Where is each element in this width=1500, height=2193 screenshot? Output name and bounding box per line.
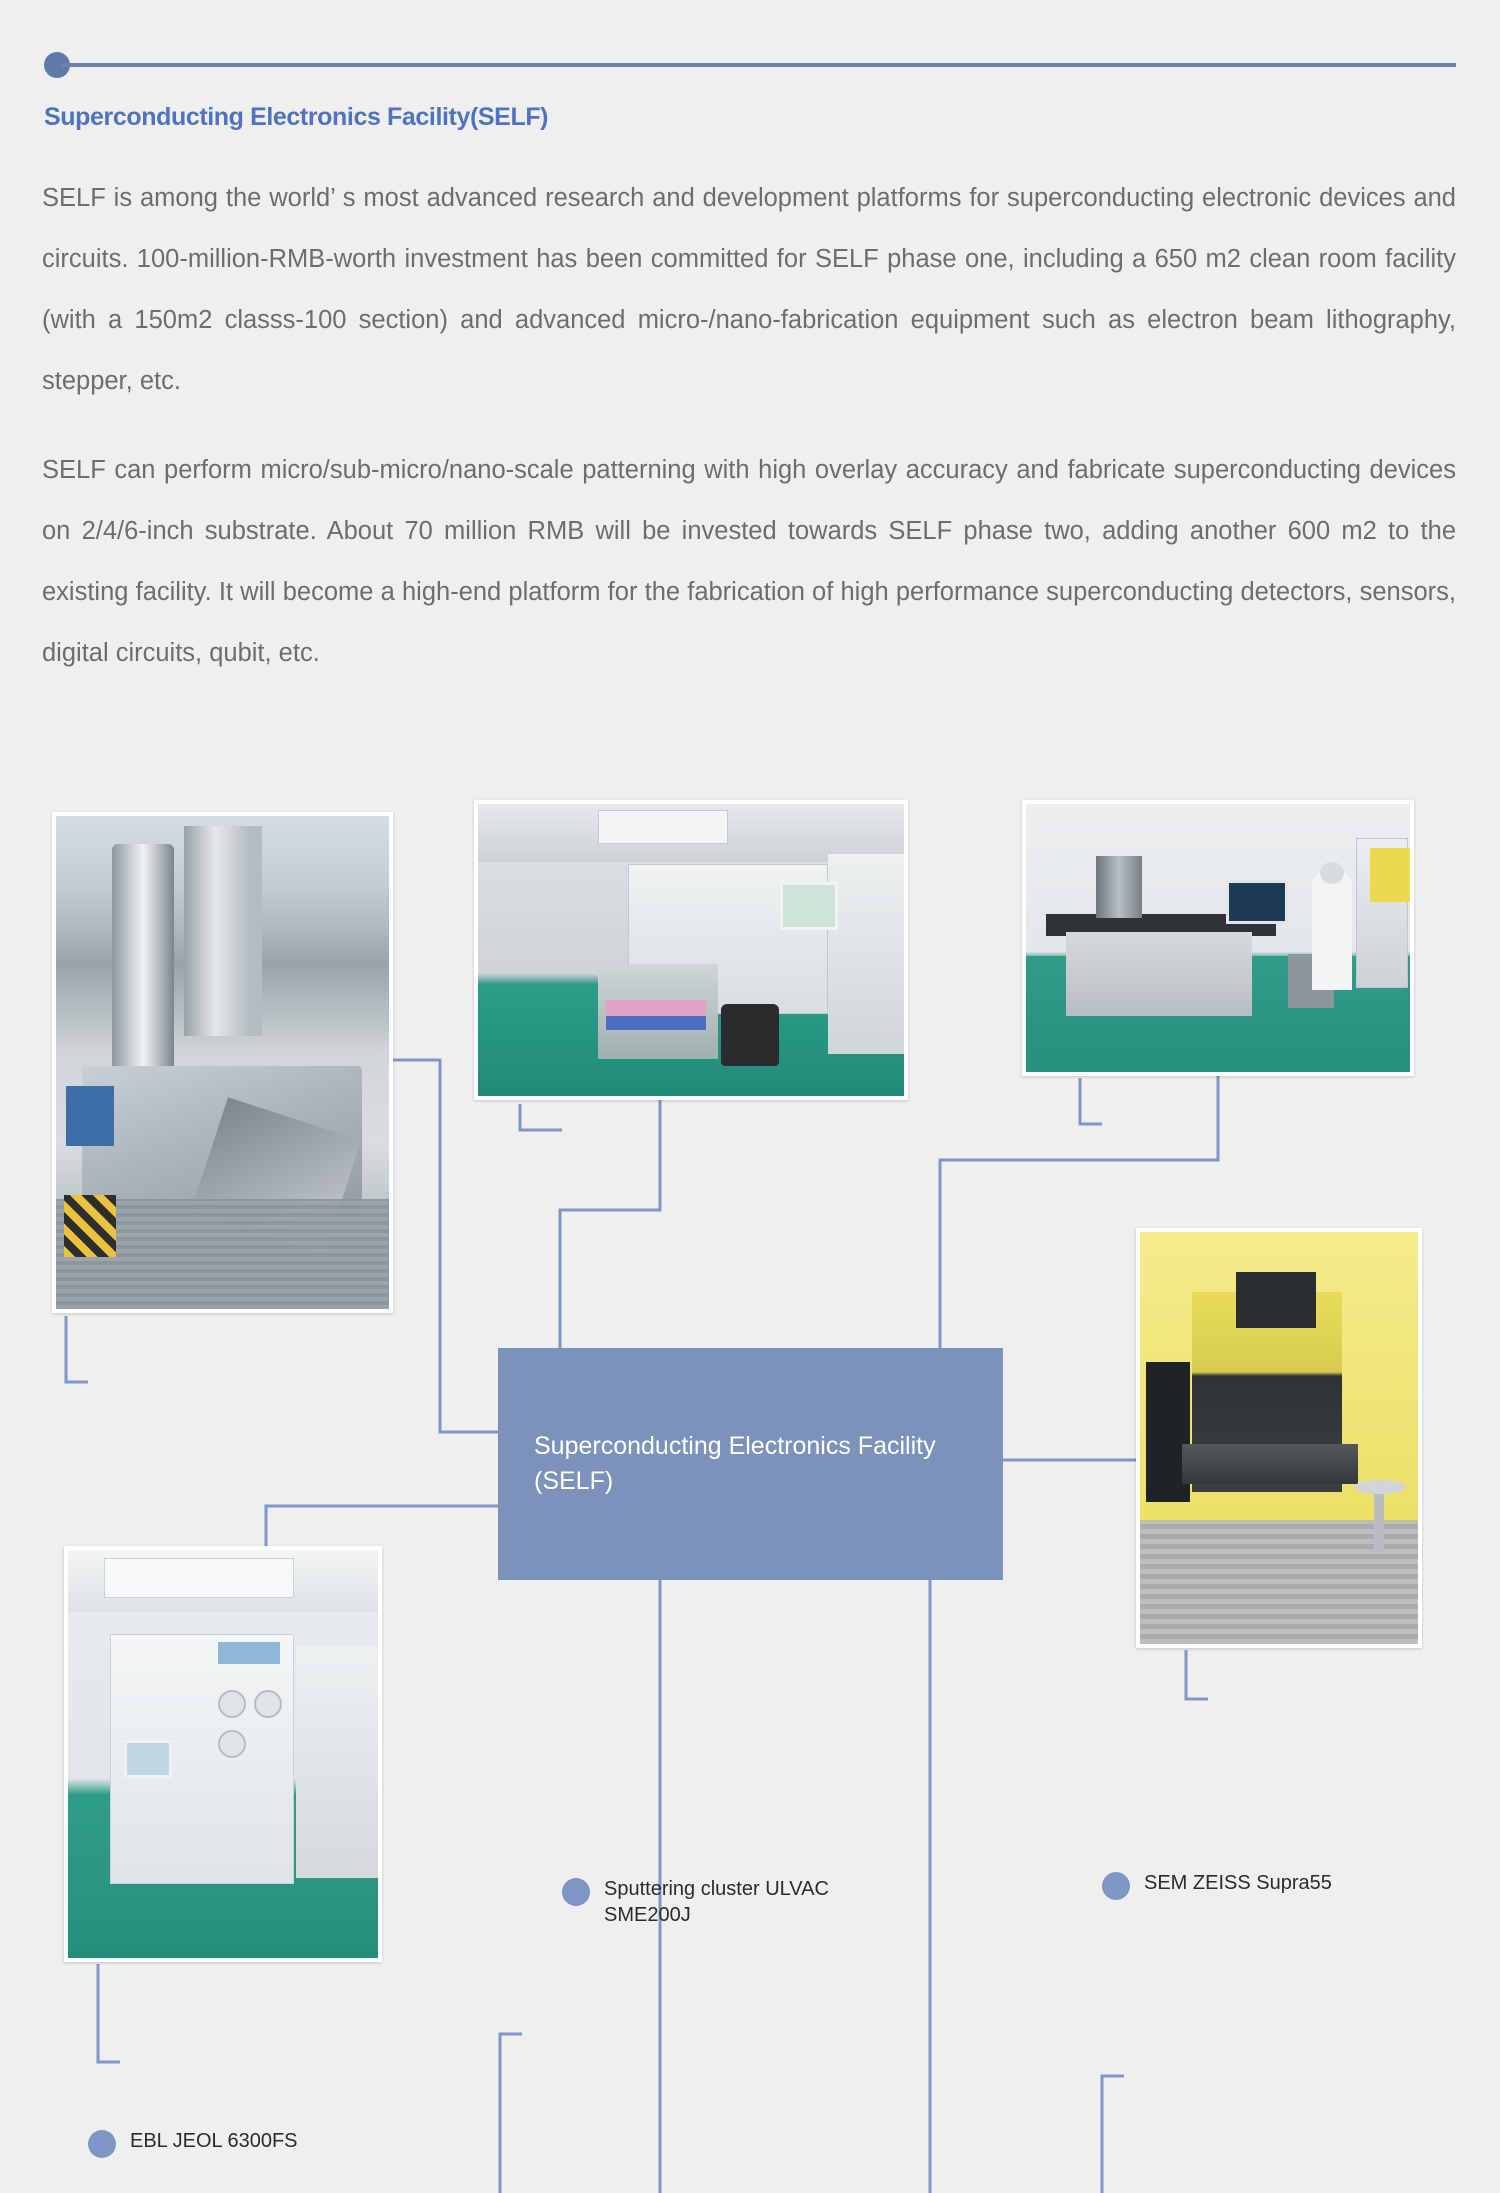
bullet-icon [88, 2130, 116, 2158]
caption-sputtering-label: Sputtering cluster ULVAC SME200J [604, 1876, 829, 1928]
caption-sem-label: SEM ZEISS Supra55 [1144, 1870, 1332, 1896]
bullet-icon [1102, 1872, 1130, 1900]
photo-mask-aligner-suss-ma6 [1136, 1228, 1422, 1648]
center-node-self: Superconducting Electronics Facility (SE… [498, 1348, 1003, 1580]
center-node-label: Superconducting Electronics Facility (SE… [498, 1429, 972, 1499]
header-divider-line [62, 63, 1456, 67]
header-rule [44, 62, 1456, 68]
caption-sem: SEM ZEISS Supra55 [1102, 1870, 1332, 1900]
paragraph-1-text: SELF is among the world’ s most advanced… [42, 168, 1456, 412]
caption-ebl: EBL JEOL 6300FS [88, 2128, 298, 2158]
equipment-diagram: Superconducting Electronics Facility (SE… [0, 760, 1500, 2193]
paragraph-1: SELF is among the world’ s most advanced… [42, 168, 1456, 412]
page-root: Superconducting Electronics Facility(SEL… [0, 0, 1500, 2193]
paragraph-2-text: SELF can perform micro/sub-micro/nano-sc… [42, 440, 1456, 684]
caption-ebl-label: EBL JEOL 6300FS [130, 2128, 298, 2154]
page-title: Superconducting Electronics Facility(SEL… [44, 103, 548, 132]
paragraph-2: SELF can perform micro/sub-micro/nano-sc… [42, 440, 1456, 684]
caption-sputtering: Sputtering cluster ULVAC SME200J [562, 1876, 829, 1928]
photo-ebl-jeol-6300fs [52, 812, 393, 1313]
photo-sem-zeiss-supra55 [1022, 800, 1414, 1076]
bullet-icon [562, 1878, 590, 1906]
photo-evaporator-ulvac-ei5 [64, 1546, 382, 1962]
photo-sputtering-cluster [474, 800, 908, 1100]
